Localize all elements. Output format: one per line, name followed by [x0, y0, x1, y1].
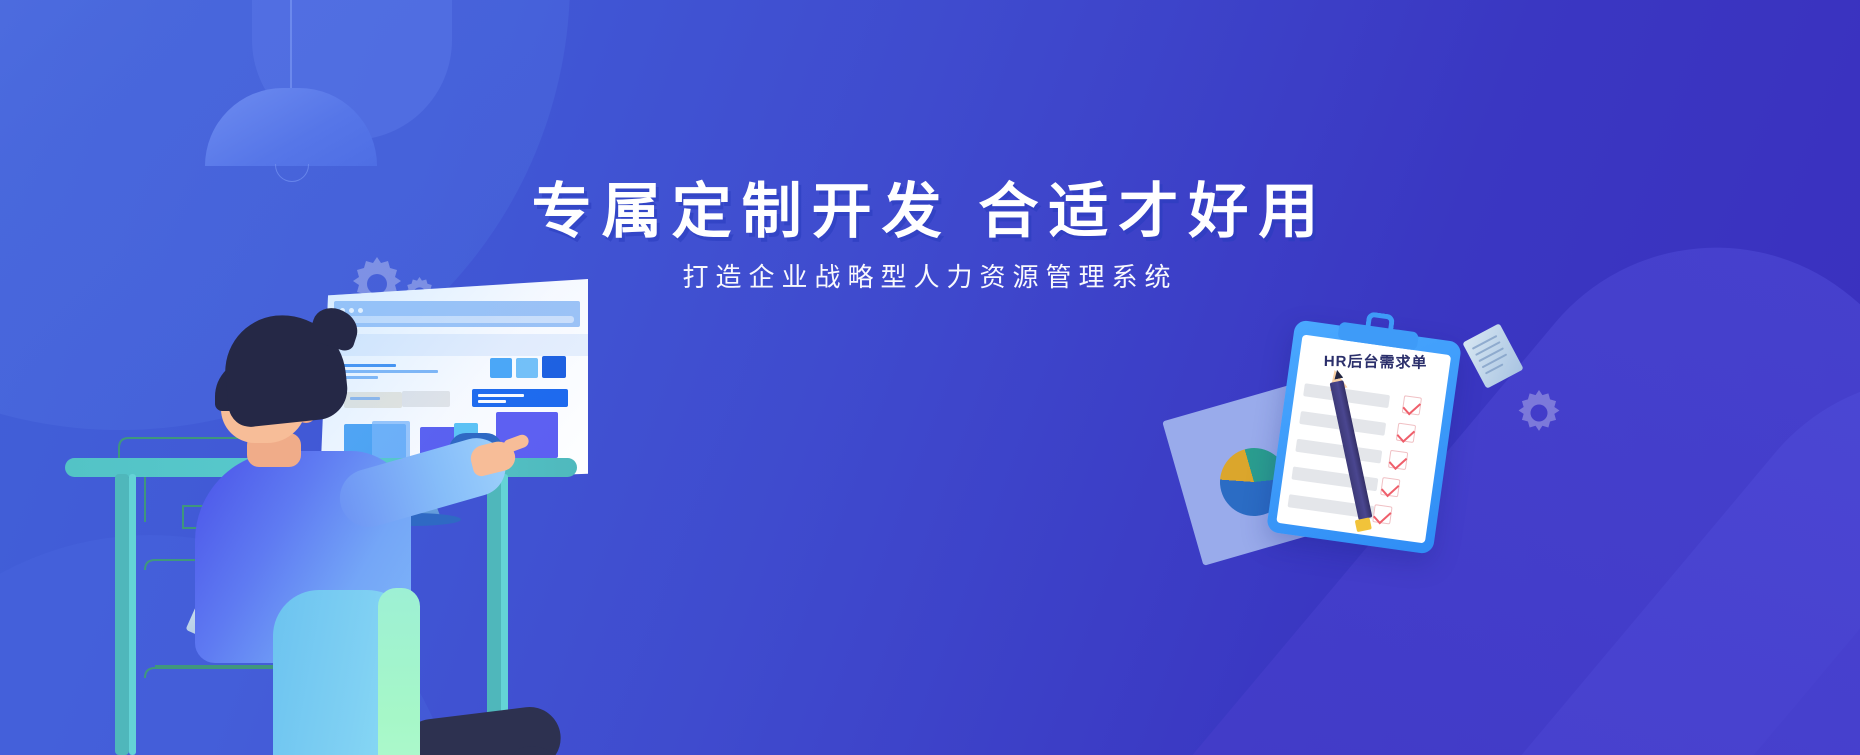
clipboard-checkmark — [1396, 423, 1416, 443]
lamp-dome — [205, 88, 377, 166]
clipboard-ring — [1364, 311, 1395, 337]
desk-leg-left-highlight — [129, 474, 136, 755]
developer-at-desk-illustration — [55, 255, 695, 755]
lamp-cord — [290, 0, 292, 90]
clipboard-checkmark — [1372, 504, 1392, 524]
clipboard-title: HR后台需求单 — [1310, 350, 1440, 373]
lamp-bulb — [275, 164, 309, 182]
clipboard-checkmark — [1380, 477, 1400, 497]
clipboard: HR后台需求单 — [1266, 319, 1462, 554]
pendant-lamp-icon — [205, 0, 377, 178]
hero-banner: 专属定制开发 合适才好用 打造企业战略型人力资源管理系统 — [0, 0, 1860, 755]
clipboard-checkmark — [1388, 450, 1408, 470]
gear-icon-right — [1516, 390, 1562, 436]
hr-requirement-form-illustration: HR后台需求单 — [1180, 320, 1630, 620]
clipboard-checkmark — [1402, 395, 1422, 415]
person-figure — [173, 315, 493, 755]
page-title: 专属定制开发 合适才好用 — [0, 182, 1860, 242]
desk-leg-left — [115, 474, 129, 755]
office-chair-edge — [378, 588, 420, 755]
